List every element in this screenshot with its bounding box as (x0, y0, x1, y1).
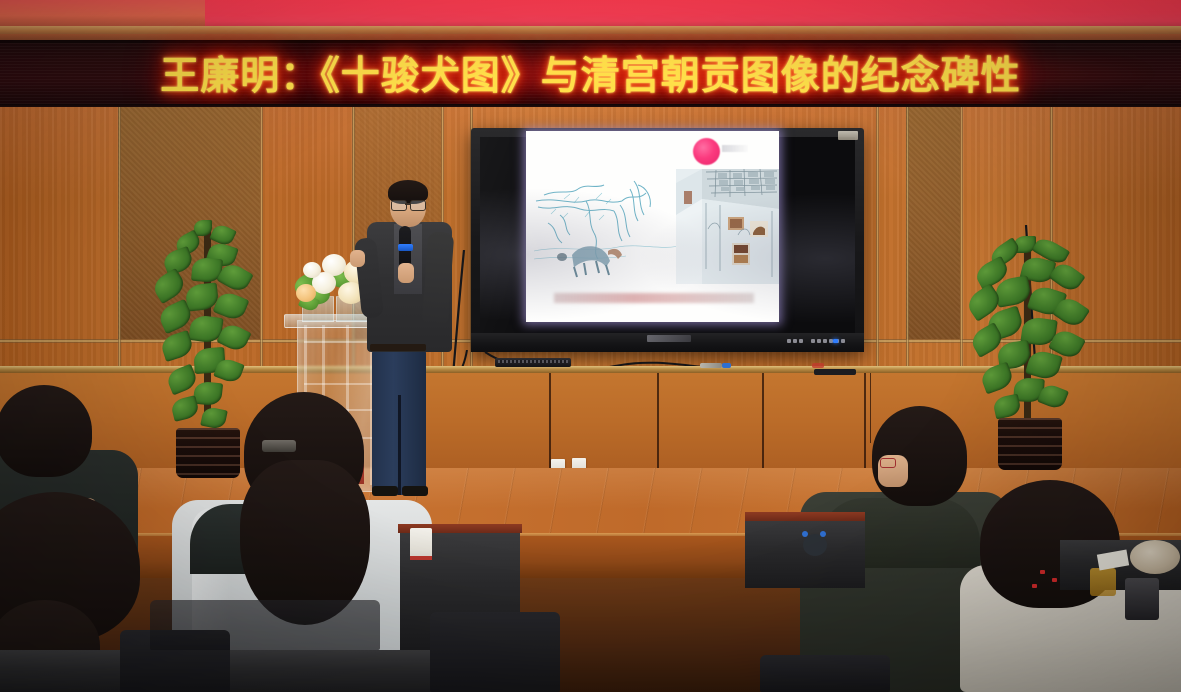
plush-toy-ear-right (820, 531, 826, 537)
attendee-back-left-head (0, 385, 92, 477)
attendee-red-hair-clip-1 (1040, 570, 1045, 574)
yellow-item-on-table (1090, 568, 1116, 596)
attendee-red-hair-clip-2 (1052, 578, 1057, 582)
slide-logo-dot (693, 138, 720, 165)
plush-toy-ear-left (802, 531, 808, 537)
thermos-mug[interactable] (1125, 578, 1159, 620)
attendee-hair-clip (262, 440, 296, 452)
slide-caption-text (554, 293, 754, 303)
screen-power-indicator (833, 339, 838, 343)
chair-back-right (760, 655, 890, 692)
presenter-glasses-bridge (405, 203, 410, 205)
presenter-glasses-left-lens (391, 200, 407, 211)
cabinet-door-seam (762, 373, 764, 468)
whiteboard-marker-red[interactable] (812, 363, 824, 368)
slide-interior-photo (676, 169, 779, 284)
attendee-red-hair-clip-3 (1032, 584, 1037, 588)
paper-cup-base-ring (410, 556, 432, 560)
screen-corner-label (838, 131, 858, 140)
presenter-gesturing-hand (350, 250, 365, 267)
presenter-hand-holding-mic (398, 263, 414, 283)
lecture-hall-photo: 王廉明：《十骏犬图》与清宫朝贡图像的纪念碑性 (0, 0, 1181, 692)
whiteboard-marker-grey[interactable] (700, 363, 722, 368)
chair-back-center (430, 612, 560, 692)
ceiling-red-glow-left (0, 0, 205, 26)
slide-ink-painting (534, 171, 684, 281)
wall-mounted-lcd-screen[interactable] (471, 128, 864, 352)
potted-pothos-right (968, 236, 1088, 481)
plush-toy[interactable] (803, 534, 827, 556)
attendee-olive-glasses (880, 458, 896, 468)
microphone-blue-band (398, 244, 413, 251)
presentation-slide (526, 131, 779, 322)
whiteboard-marker-blue[interactable] (722, 363, 731, 368)
cabinet-door-seam (549, 373, 551, 468)
fur-trim-item (1130, 540, 1180, 574)
remote-control[interactable] (814, 369, 856, 375)
presenter-shoe-right (402, 486, 428, 496)
cabinet-door-seam (870, 373, 871, 443)
presenter-belt (370, 344, 426, 351)
presenter-shoe-left (372, 486, 398, 496)
chair-back-mid (150, 600, 380, 650)
side-table-top-left (745, 512, 865, 521)
presenter-glasses-right-lens (410, 200, 426, 211)
cabinet-door-seam (657, 373, 659, 468)
slide-logo-wordmark (722, 145, 748, 152)
side-table-left (745, 518, 865, 588)
foreground-table (0, 650, 470, 692)
presenter-leg-gap (398, 395, 401, 495)
screen-brand-logo (647, 335, 691, 342)
computer-keyboard[interactable] (495, 358, 571, 367)
cabinet-door-seam (864, 373, 866, 468)
wall-texture-panel-right (906, 107, 960, 339)
led-banner-text: 王廉明：《十骏犬图》与清宫朝贡图像的纪念碑性 (0, 42, 1181, 104)
